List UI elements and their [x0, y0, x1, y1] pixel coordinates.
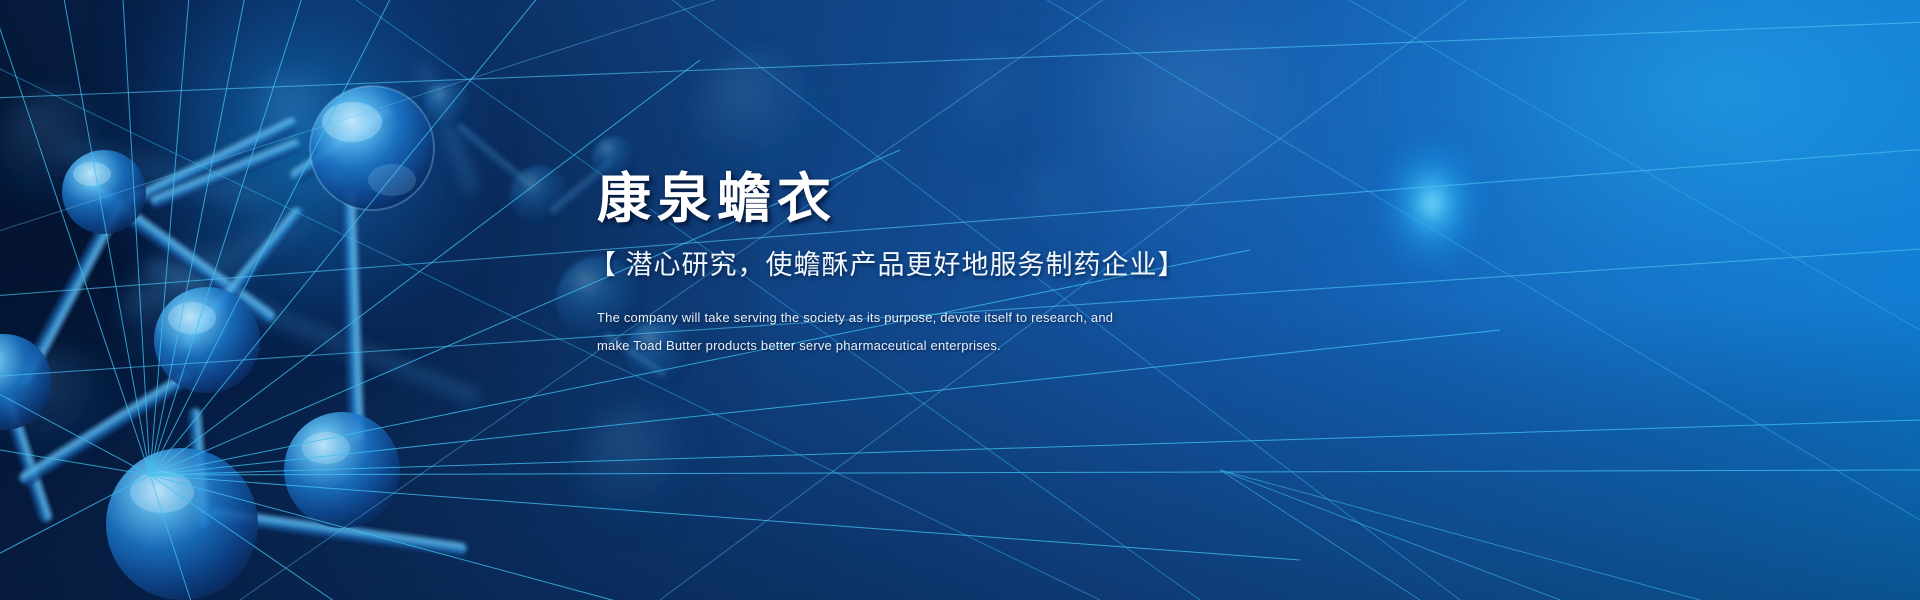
hero-copy: 康泉蟾衣 【 潜心研究，使蟾酥产品更好地服务制药企业】 The company … [597, 168, 1357, 364]
page-title: 康泉蟾衣 [597, 168, 1357, 230]
page-subtitle: 【 潜心研究，使蟾酥产品更好地服务制药企业】 [589, 248, 1357, 282]
hero-banner: 康泉蟾衣 【 潜心研究，使蟾酥产品更好地服务制药企业】 The company … [0, 0, 1920, 600]
description-line-2: make Toad Butter products better serve p… [597, 336, 1357, 355]
description-line-1: The company will take serving the societ… [597, 308, 1357, 327]
hero-description: The company will take serving the societ… [597, 308, 1357, 355]
